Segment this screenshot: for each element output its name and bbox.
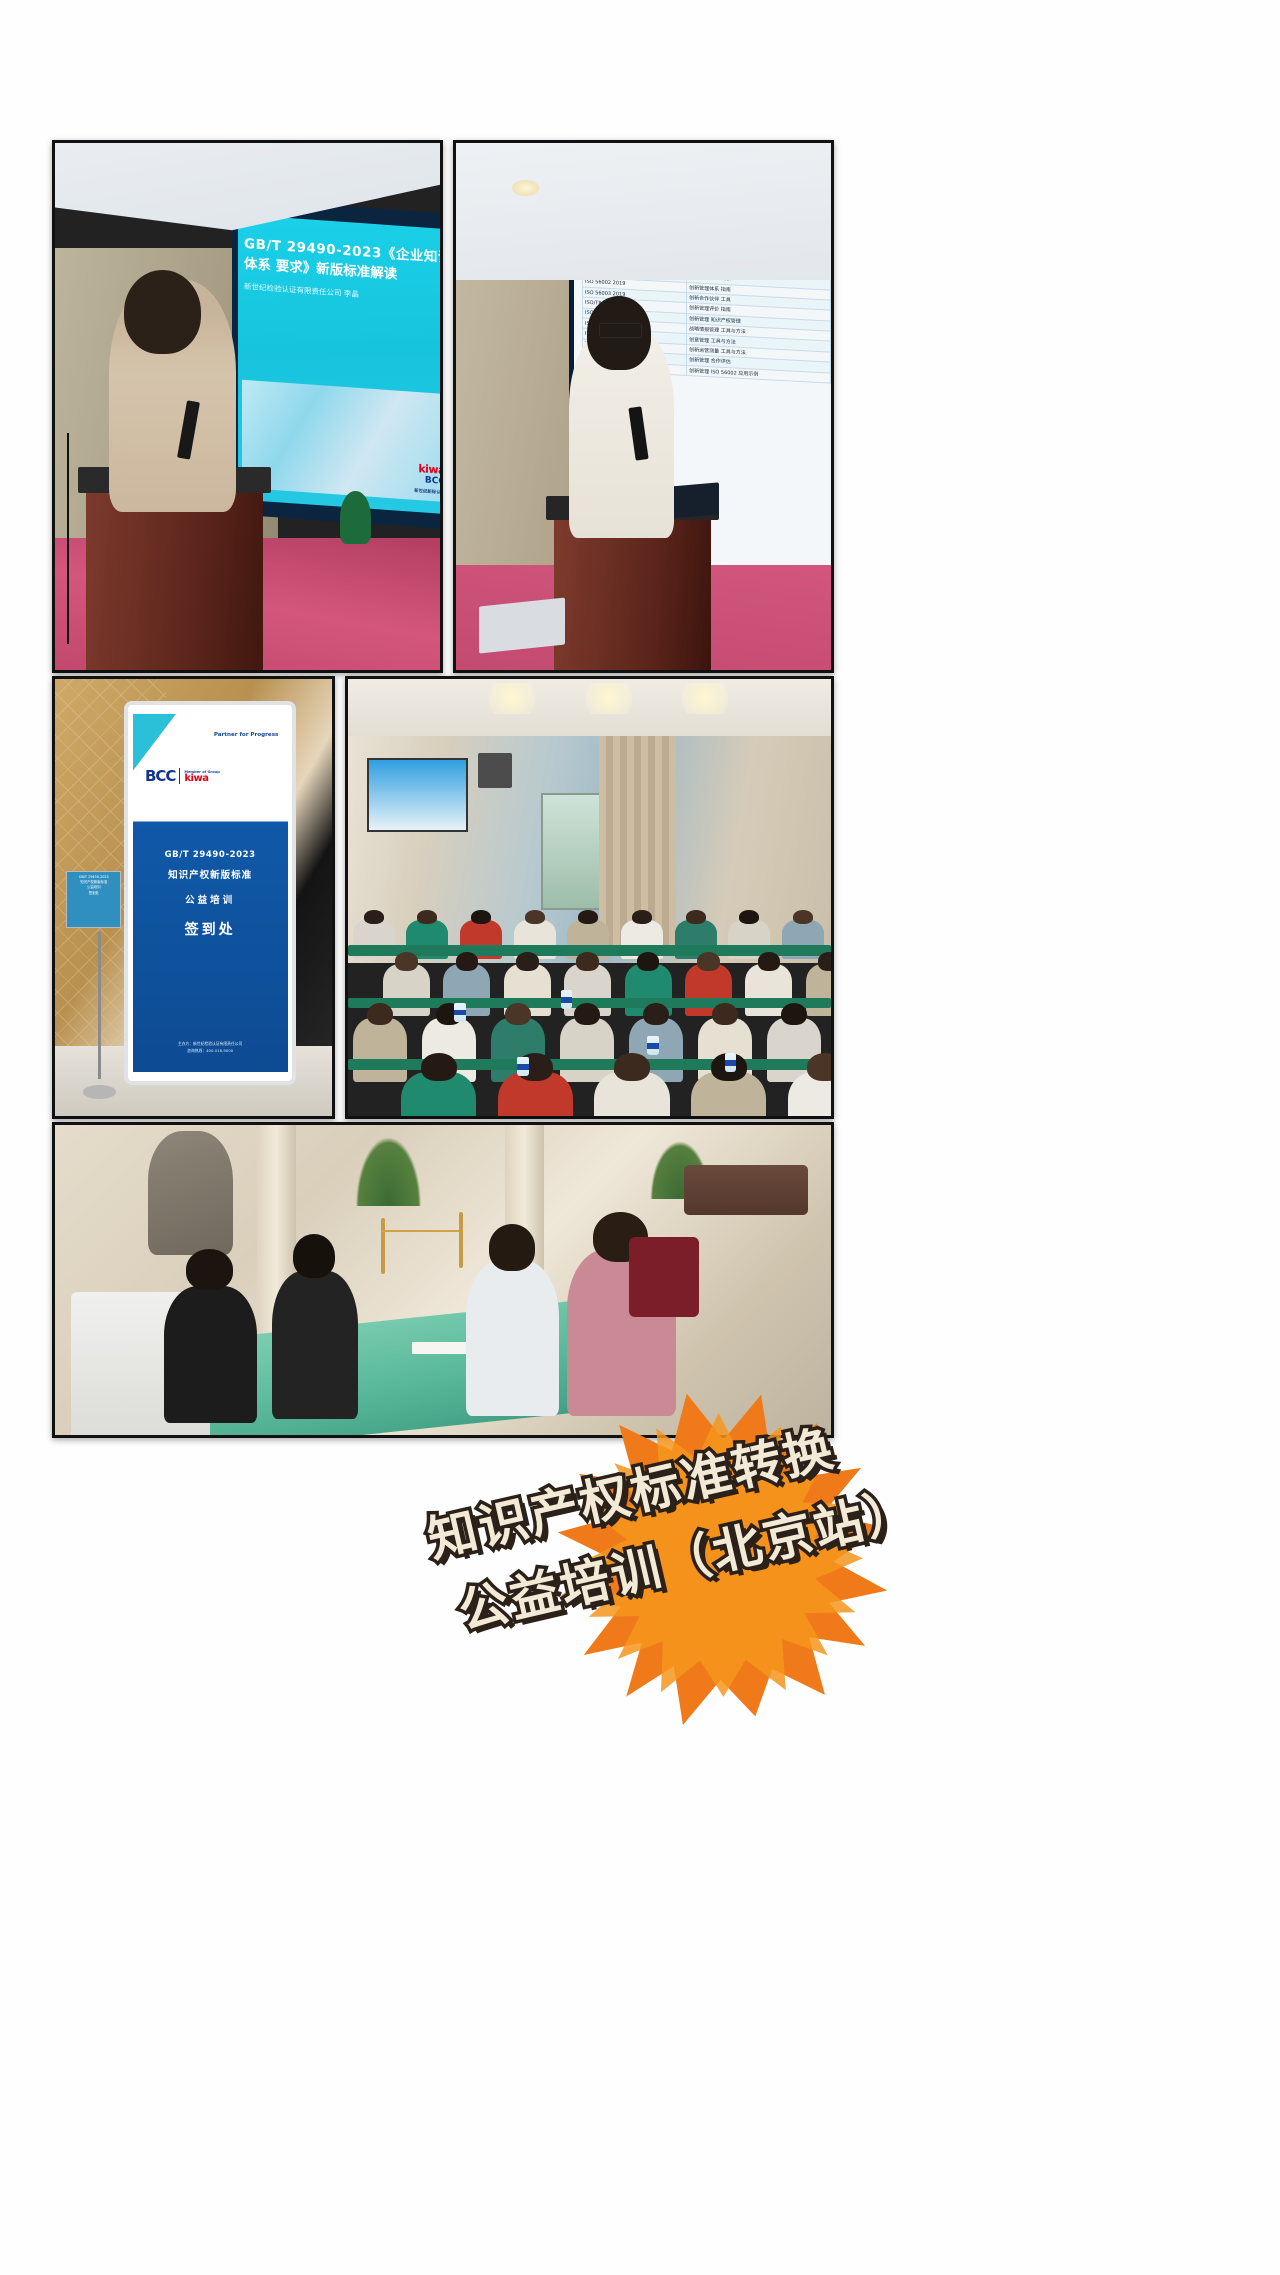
desk-person-body — [272, 1271, 357, 1420]
banner-line3: 公益培训 — [133, 892, 288, 906]
potted-plant — [340, 491, 371, 544]
audience-person-head — [614, 1053, 650, 1081]
bcc-logo-sub: 新世纪新标认证 — [414, 488, 440, 495]
banner-line4: 签到处 — [133, 919, 288, 939]
stand-base — [83, 1085, 116, 1098]
photo-audience-content — [348, 679, 831, 1116]
banner-hotline: 咨询热线：400-018-9000 — [133, 1048, 288, 1055]
audience-person-head — [364, 910, 384, 924]
audience-person-head — [739, 910, 759, 924]
presenter-hair — [124, 270, 201, 354]
audience-person-head — [456, 952, 479, 970]
window — [541, 793, 608, 911]
banner-line1: GB/T 29490-2023 — [133, 850, 288, 860]
banner-organizer: 主办方：新世纪检验认证有限责任公司 — [133, 1041, 288, 1048]
desk-person-head — [293, 1234, 336, 1279]
audience-person-head — [712, 1003, 738, 1026]
chandelier-icon — [483, 683, 541, 714]
banner-line2: 知识产权新版标准 — [133, 867, 288, 881]
audience-person-head — [637, 952, 660, 970]
audience-person-head — [516, 952, 539, 970]
audience-person-head — [632, 910, 652, 924]
audience-person-head — [807, 1053, 831, 1081]
desk-person-head — [186, 1249, 233, 1290]
stanchion-post — [381, 1218, 385, 1274]
backpack — [629, 1237, 699, 1318]
audience-person-head — [574, 1003, 600, 1026]
water-bottle — [561, 990, 573, 1009]
audience-person-head — [643, 1003, 669, 1026]
water-bottle — [725, 1053, 737, 1072]
desk-person-head — [489, 1224, 536, 1271]
banner-tagline: Partner for Progress — [214, 732, 279, 738]
stanchion-rope — [381, 1230, 459, 1232]
audience-person-head — [578, 910, 598, 924]
stanchion-post — [459, 1212, 463, 1268]
floor-monitor — [479, 597, 565, 653]
audience-person-head — [395, 952, 418, 970]
sign-stand — [83, 932, 116, 1098]
banner-logo-group: BCC Member of Group kiwa — [145, 768, 220, 784]
audience-person — [806, 964, 831, 1015]
side-sign: GB/T 29490-2023 知识产权新版标准 公益培训 签到处 — [66, 871, 121, 928]
audience-person — [560, 1018, 614, 1082]
audience-crowd — [348, 906, 831, 1116]
audience-person-head — [576, 952, 599, 970]
photo-rollup-banner[interactable]: GB/T 29490-2023 知识产权新版标准 公益培训 签到处 Partne… — [52, 676, 335, 1119]
audience-person-head — [697, 952, 720, 970]
water-bottle — [517, 1057, 529, 1076]
chandelier-icon — [580, 683, 638, 714]
wall-speaker — [478, 753, 512, 788]
eyeglasses-icon — [599, 323, 642, 338]
logo-divider — [179, 768, 180, 784]
audience-person-head — [818, 952, 831, 970]
lectern — [554, 517, 712, 670]
audience-person-head — [781, 1003, 807, 1026]
stand-pole — [98, 932, 101, 1078]
desk-person-body — [164, 1286, 257, 1422]
speaker-stand — [67, 433, 69, 644]
audience-person-head — [793, 910, 813, 924]
audience-person-head — [421, 1053, 457, 1081]
chandelier-icon — [676, 683, 734, 714]
audience-person-head — [686, 910, 706, 924]
ceiling — [456, 143, 831, 280]
side-sign-line4: 签到处 — [70, 891, 117, 896]
plant-decor — [350, 1125, 428, 1206]
banner-footer: 主办方：新世纪检验认证有限责任公司 咨询热线：400-018-9000 — [133, 1041, 288, 1055]
audience-person-head — [367, 1003, 393, 1026]
kiwa-logo: kiwa — [184, 774, 219, 784]
audience-person-head — [505, 1003, 531, 1026]
lectern — [86, 491, 263, 670]
rollup-banner: Partner for Progress BCC Member of Group… — [133, 714, 288, 1072]
banner-corner-accent — [133, 714, 176, 771]
audience-person-head — [758, 952, 781, 970]
photo-rollup-banner-content: GB/T 29490-2023 知识产权新版标准 公益培训 签到处 Partne… — [55, 679, 332, 1116]
water-bottle — [647, 1036, 659, 1055]
photo-speaker-woman-content: GB/T 29490-2023《企业知识产权管理 体系 要求》新版标准解读 新世… — [55, 143, 440, 670]
slide-illustration — [242, 380, 440, 503]
photo-speaker-woman[interactable]: GB/T 29490-2023《企业知识产权管理 体系 要求》新版标准解读 新世… — [52, 140, 443, 673]
projection-screen — [367, 758, 468, 832]
kiwa-logo: kiwa — [414, 461, 440, 476]
audience-person-head — [417, 910, 437, 924]
photo-speaker-man[interactable]: 国家知识产权局 标准编号 标准名称 ISO/AWI 25032创新管理 – 管理… — [453, 140, 834, 673]
banner-text-block: GB/T 29490-2023 知识产权新版标准 公益培训 签到处 — [133, 850, 288, 939]
ceiling-light-icon — [512, 180, 538, 196]
water-bottle — [454, 1003, 466, 1022]
photo-audience[interactable] — [345, 676, 834, 1119]
collage-canvas: GB/T 29490-2023《企业知识产权管理 体系 要求》新版标准解读 新世… — [0, 0, 1280, 2275]
audience-person-head — [525, 910, 545, 924]
lobby-sofa — [684, 1165, 808, 1215]
statue-decor — [148, 1131, 233, 1255]
starburst-shape-inner — [577, 1411, 866, 1700]
bcc-logo: BCC — [145, 769, 175, 784]
slide-logo-group: kiwa BCC 新世纪新标认证 — [414, 461, 440, 496]
starburst-badge — [525, 1359, 916, 1750]
audience-person-head — [471, 910, 491, 924]
audience-person — [353, 1018, 407, 1082]
photo-speaker-man-content: 国家知识产权局 标准编号 标准名称 ISO/AWI 25032创新管理 – 管理… — [456, 143, 831, 670]
desk-person-body — [466, 1261, 559, 1416]
